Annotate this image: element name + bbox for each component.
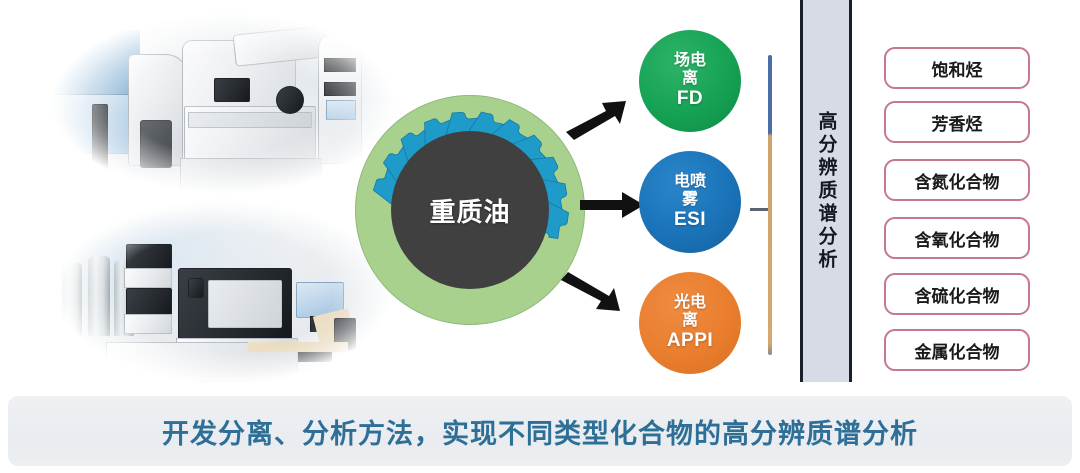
compound-pill-label: 含氧化合物 bbox=[915, 226, 1000, 251]
caption-text: 开发分离、分析方法，实现不同类型化合物的高分辨质谱分析 bbox=[162, 412, 918, 451]
ion-source-appi-abbr: APPI bbox=[667, 330, 713, 351]
ion-source-appi-cn-line2: 离 bbox=[682, 312, 698, 330]
arrow-to-fd-icon bbox=[560, 88, 644, 148]
ion-source-fd-abbr: FD bbox=[677, 88, 703, 109]
ion-source-esi-cn-line1: 电喷 bbox=[674, 173, 706, 191]
compound-pill-label: 金属化合物 bbox=[915, 338, 1000, 363]
compound-pill-oxygen-compounds[interactable]: 含氧化合物 bbox=[884, 217, 1030, 259]
ion-source-esi-abbr: ESI bbox=[674, 209, 706, 230]
compound-pill-label: 饱和烃 bbox=[932, 56, 983, 81]
ion-source-esi[interactable]: 电喷 雾 ESI bbox=[639, 151, 741, 253]
hrms-analysis-box: 高分辨质谱分析 bbox=[800, 0, 852, 382]
lab-mass-spectrometer-photo bbox=[44, 8, 404, 198]
ion-source-fd-cn-line2: 离 bbox=[682, 70, 698, 88]
compound-pill-sulfur-compounds[interactable]: 含硫化合物 bbox=[884, 273, 1030, 315]
arrow-to-esi-icon bbox=[578, 190, 648, 220]
ion-source-appi-cn-line1: 光电 bbox=[674, 294, 706, 312]
heavy-oil-donut: 重质油 bbox=[355, 95, 585, 325]
heavy-oil-label: 重质油 bbox=[429, 192, 510, 229]
ion-source-fd[interactable]: 场电 离 FD bbox=[639, 30, 741, 132]
compound-pill-aromatic-hydrocarbons[interactable]: 芳香烃 bbox=[884, 101, 1030, 143]
hrms-analysis-label: 高分辨质谱分析 bbox=[817, 111, 836, 272]
compound-pill-nitrogen-compounds[interactable]: 含氮化合物 bbox=[884, 159, 1030, 201]
compound-pill-saturated-hydrocarbons[interactable]: 饱和烃 bbox=[884, 47, 1030, 89]
compound-pill-label: 芳香烃 bbox=[932, 110, 983, 135]
compound-pill-label: 含氮化合物 bbox=[915, 168, 1000, 193]
compound-pill-label: 含硫化合物 bbox=[915, 282, 1000, 307]
ion-source-esi-cn-line2: 雾 bbox=[682, 191, 698, 209]
arrow-to-appi-icon bbox=[558, 260, 642, 322]
ion-source-appi[interactable]: 光电 离 APPI bbox=[639, 272, 741, 374]
separation-column-tick bbox=[750, 208, 768, 211]
lab-lcms-workstation-photo bbox=[48, 196, 400, 388]
separation-column-line bbox=[768, 55, 772, 355]
donut-core: 重质油 bbox=[391, 131, 549, 289]
caption-bar: 开发分离、分析方法，实现不同类型化合物的高分辨质谱分析 bbox=[8, 396, 1072, 466]
compound-pill-metal-compounds[interactable]: 金属化合物 bbox=[884, 329, 1030, 371]
ion-source-fd-cn-line1: 场电 bbox=[674, 52, 706, 70]
